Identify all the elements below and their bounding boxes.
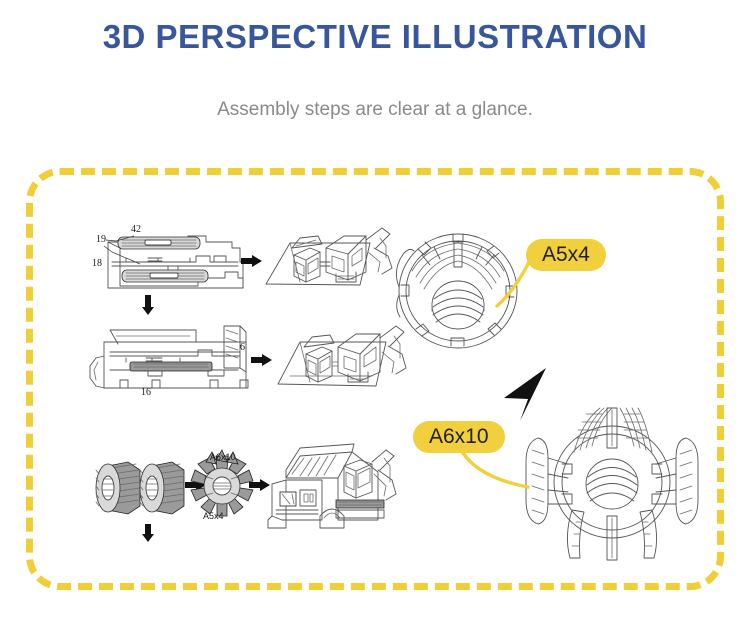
part-number-18: 18 [92,258,102,269]
part-number-42: 42 [131,224,141,235]
callout-pill-a5x4[interactable]: A5x4 [526,239,606,271]
part-label-a6x10: A6x10 [210,452,236,462]
poster-page: 3D PERSPECTIVE ILLUSTRATION Assembly ste… [0,0,750,635]
part-number-6: 6 [240,342,245,353]
callout-pill-a6x10[interactable]: A6x10 [413,421,505,453]
part-label-a5x4: A5x4 [203,511,224,521]
part-number-19: 19 [96,234,106,245]
part-number-16: 16 [141,387,151,398]
page-subtitle: Assembly steps are clear at a glance. [0,99,750,121]
page-title: 3D PERSPECTIVE ILLUSTRATION [0,18,750,56]
